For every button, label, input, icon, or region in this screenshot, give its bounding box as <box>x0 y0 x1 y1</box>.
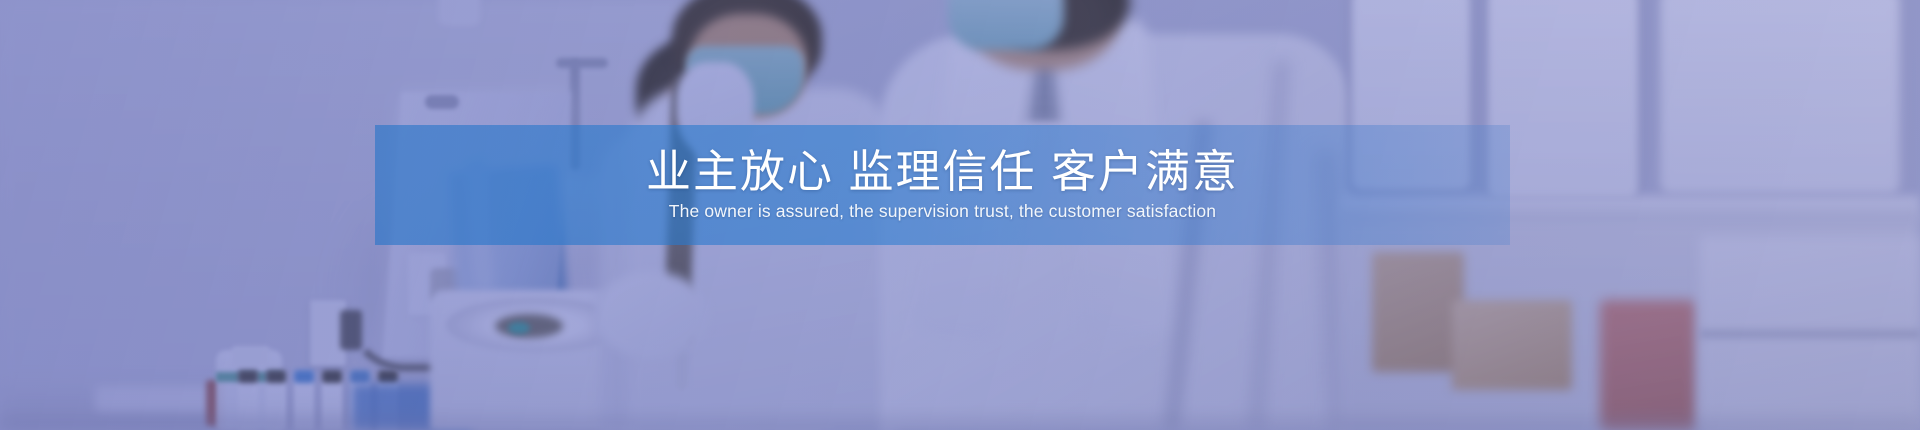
banner-subtitle: The owner is assured, the supervision tr… <box>669 201 1216 222</box>
hero-banner: 业主放心 监理信任 客户满意 The owner is assured, the… <box>0 0 1920 430</box>
banner-headline: 业主放心 监理信任 客户满意 <box>646 148 1239 197</box>
banner-text-block: 业主放心 监理信任 客户满意 The owner is assured, the… <box>375 125 1510 245</box>
